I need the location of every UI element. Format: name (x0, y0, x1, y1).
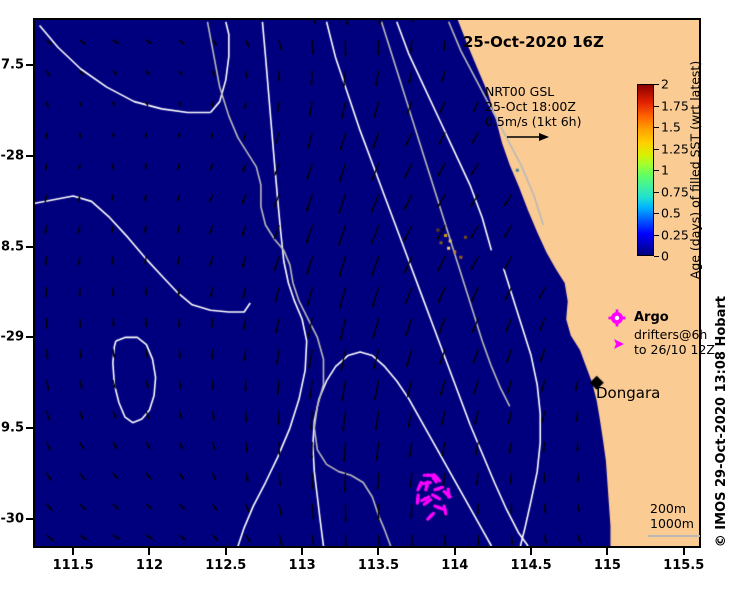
x-tick-label: 111.5 (53, 558, 94, 573)
timestamp-title: 25-Oct-2020 16Z (463, 33, 604, 51)
drifter-arrow-icon (610, 338, 626, 350)
y-tick (26, 427, 33, 429)
x-tick-label: 112 (136, 558, 163, 573)
depth-key-rule (648, 535, 700, 537)
colorbar-tick (654, 256, 659, 257)
colorbar-tick-label: 1.5 (661, 120, 681, 135)
depth-key-1000m: 1000m (650, 516, 694, 531)
y-tick (26, 64, 33, 66)
y-tick-label: -29 (1, 330, 25, 345)
y-tick (26, 336, 33, 338)
colorbar-tick-label: 1.25 (661, 141, 689, 156)
colorbar-tick-label: 1.75 (661, 98, 689, 113)
legend-drifter-line1: drifters@6h (634, 327, 707, 342)
colorbar-tick-label: 0.75 (661, 184, 689, 199)
credit-text: © IMOS 29-Oct-2020 13:08 Hobart (714, 296, 729, 547)
colorbar-gradient (637, 84, 654, 256)
y-tick (26, 246, 33, 248)
argo-star-icon (608, 309, 626, 327)
x-tick (72, 548, 74, 555)
colorbar-tick (654, 192, 659, 193)
vector-key-line3: 0.5m/s (1kt 6h) (485, 114, 581, 129)
colorbar-tick (654, 84, 659, 85)
right-arrow-icon (505, 130, 551, 144)
x-tick (148, 548, 150, 555)
x-tick-label: 115 (594, 558, 621, 573)
x-tick (301, 548, 303, 555)
colorbar-tick (654, 149, 659, 150)
x-tick-label: 113.5 (358, 558, 399, 573)
vector-key-line1: NRT00 GSL (485, 84, 581, 99)
colorbar-tick (654, 170, 659, 171)
x-tick (530, 548, 532, 555)
place-label-dongara: Dongara (596, 384, 660, 402)
colorbar-tick (654, 235, 659, 236)
y-tick-label: -30 (1, 511, 25, 526)
x-tick-label: 113 (289, 558, 316, 573)
y-tick-label: -29.5 (0, 421, 24, 436)
map-raster (35, 20, 699, 546)
x-tick (454, 548, 456, 555)
x-tick-label: 115.5 (663, 558, 704, 573)
y-tick-label: -27.5 (0, 58, 24, 73)
y-tick (26, 518, 33, 520)
legend-drifter-line2: to 26/10 12Z (634, 342, 715, 357)
x-tick-label: 114 (441, 558, 468, 573)
x-tick (683, 548, 685, 555)
colorbar-title: Age (days) of filled SST (wrt latest) (688, 61, 703, 279)
depth-contour-key: 200m 1000m (650, 501, 694, 531)
colorbar-tick-label: 2 (661, 77, 669, 92)
legend-argo-label: Argo (634, 310, 669, 325)
x-tick (606, 548, 608, 555)
colorbar-tick-label: 0 (661, 249, 669, 264)
colorbar-tick-label: 0.5 (661, 206, 681, 221)
colorbar-tick (654, 213, 659, 214)
y-tick (26, 155, 33, 157)
x-tick (377, 548, 379, 555)
x-tick (225, 548, 227, 555)
y-tick-label: -28 (1, 149, 25, 164)
vector-key-block: NRT00 GSL 25-Oct 18:00Z 0.5m/s (1kt 6h) (485, 84, 581, 129)
x-tick-label: 112.5 (205, 558, 246, 573)
depth-key-200m: 200m (650, 501, 694, 516)
colorbar-tick (654, 127, 659, 128)
colorbar-tick (654, 106, 659, 107)
vector-key-line2: 25-Oct 18:00Z (485, 99, 581, 114)
colorbar-tick-label: 0.25 (661, 227, 689, 242)
colorbar-tick-label: 1 (661, 163, 669, 178)
map-plot-area[interactable] (33, 18, 701, 548)
y-tick-label: -28.5 (0, 239, 24, 254)
x-tick-label: 114.5 (511, 558, 552, 573)
colorbar: 00.250.50.7511.251.51.752 Age (days) of … (637, 84, 715, 256)
